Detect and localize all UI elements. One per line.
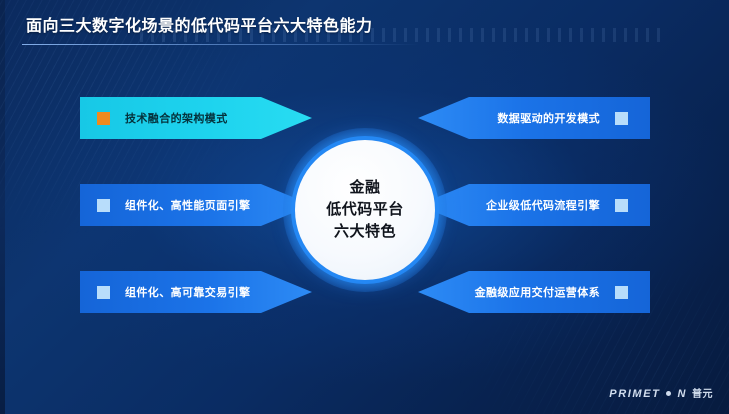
feature-bar-left-1[interactable]: 技术融合的架构模式: [80, 97, 312, 139]
center-line-1: 金融: [349, 177, 380, 199]
feature-label-right-1: 数据驱动的开发模式: [497, 110, 600, 126]
blue-square-marker-icon: [615, 199, 628, 212]
center-line-3: 六大特色: [334, 221, 396, 243]
logo-dot-icon: [666, 391, 671, 396]
feature-bar-left-3[interactable]: 组件化、高可靠交易引擎: [80, 271, 312, 313]
feature-bar-right-3[interactable]: 金融级应用交付运营体系: [418, 271, 650, 313]
feature-label-left-2: 组件化、高性能页面引擎: [125, 197, 250, 213]
primeton-logo: PRIMET N 普元: [609, 385, 713, 400]
feature-bar-right-2[interactable]: 企业级低代码流程引擎: [418, 184, 650, 226]
feature-bar-right-1[interactable]: 数据驱动的开发模式: [418, 97, 650, 139]
blue-square-marker-icon: [97, 199, 110, 212]
blue-square-marker-icon: [97, 286, 110, 299]
logo-text-cn: 普元: [692, 385, 713, 400]
left-edge-strip: [0, 0, 5, 414]
orange-square-marker-icon: [97, 112, 110, 125]
slide-header: 面向三大数字化场景的低代码平台六大特色能力: [0, 15, 729, 47]
center-line-2: 低代码平台: [326, 199, 404, 221]
logo-text-en: PRIMET: [609, 388, 660, 400]
feature-label-right-3: 金融级应用交付运营体系: [475, 284, 600, 300]
page-title: 面向三大数字化场景的低代码平台六大特色能力: [26, 15, 373, 39]
feature-bar-left-2[interactable]: 组件化、高性能页面引擎: [80, 184, 312, 226]
blue-square-marker-icon: [615, 286, 628, 299]
feature-label-right-2: 企业级低代码流程引擎: [486, 197, 600, 213]
blue-square-marker-icon: [615, 112, 628, 125]
center-circle: 金融 低代码平台 六大特色: [295, 140, 435, 280]
slide-canvas: 面向三大数字化场景的低代码平台六大特色能力 技术融合的架构模式 组件化、高性能页…: [0, 0, 729, 414]
title-underline: [22, 44, 420, 45]
logo-text-en-tail: N: [677, 388, 687, 400]
feature-label-left-1: 技术融合的架构模式: [125, 110, 228, 126]
feature-label-left-3: 组件化、高可靠交易引擎: [125, 284, 250, 300]
